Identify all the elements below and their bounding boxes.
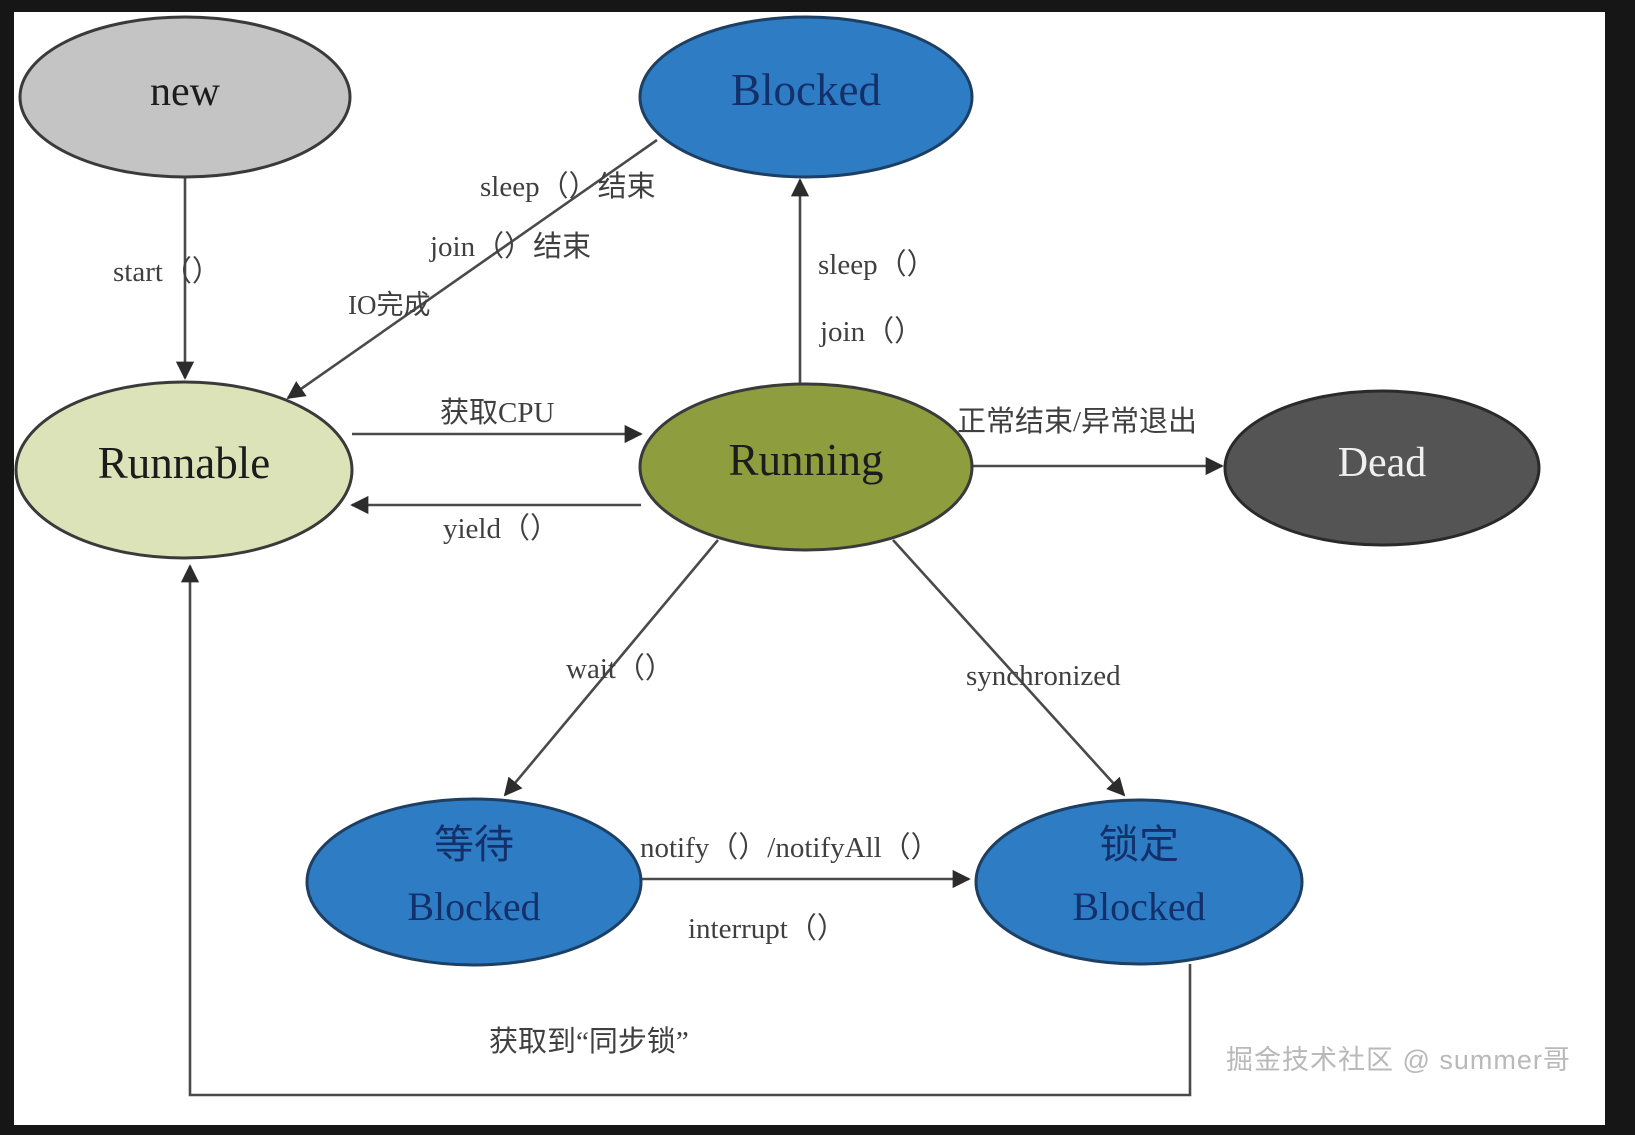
- watermark-label: 掘金技术社区 @ summer哥: [1226, 1038, 1571, 1077]
- edge-running-to-lock: [893, 540, 1124, 795]
- node-new[interactable]: [20, 17, 350, 177]
- node-runnable[interactable]: [16, 382, 352, 558]
- edge-running-to-wait: [505, 540, 718, 795]
- node-lock-blocked[interactable]: [976, 800, 1302, 964]
- node-running[interactable]: [640, 384, 972, 550]
- node-wait-blocked[interactable]: [307, 799, 641, 965]
- edge-blocked-to-runnable: [288, 140, 657, 398]
- diagram-stage: new Blocked Runnable Running Dead 等待 Blo…: [0, 0, 1635, 1135]
- diagram-vector-layer: [0, 0, 1635, 1135]
- node-blocked-top[interactable]: [640, 17, 972, 177]
- node-dead[interactable]: [1225, 391, 1539, 545]
